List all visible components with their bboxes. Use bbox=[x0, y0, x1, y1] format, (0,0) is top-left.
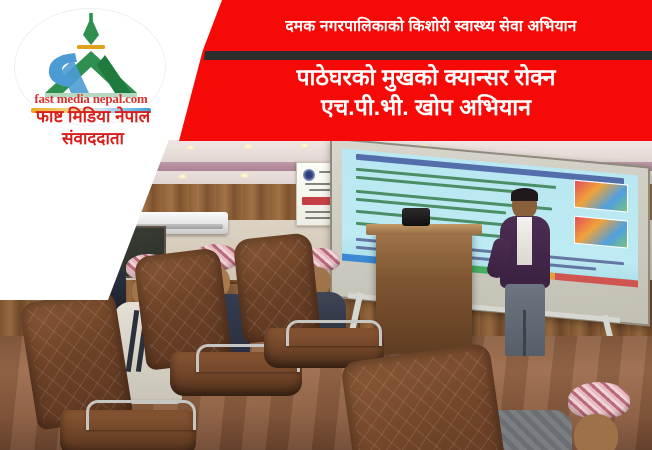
ceiling-light bbox=[300, 143, 309, 148]
presenter-trouser-gap bbox=[523, 310, 526, 356]
presenter-hair bbox=[511, 188, 538, 201]
podium bbox=[376, 230, 472, 354]
campaign-title-line2: एच.पी.भी. खोप अभियान bbox=[206, 92, 646, 122]
foreground-chair bbox=[344, 352, 534, 450]
ceiling-light bbox=[240, 173, 249, 178]
ceiling-light bbox=[244, 144, 253, 149]
presenter-shirt bbox=[517, 217, 532, 265]
news-banner-card: दमक नगरपालिकाको किशोरी स्वास्थ्य सेवा अभ… bbox=[0, 0, 652, 450]
dhaka-topi bbox=[568, 382, 630, 418]
ceiling-light bbox=[186, 145, 195, 150]
ceiling-light bbox=[178, 174, 187, 179]
slide-thumbnail bbox=[574, 216, 628, 249]
slide-thumbnail bbox=[574, 180, 628, 213]
campaign-title-line1: पाठेघरको मुखको क्यान्सर रोक्न bbox=[206, 62, 646, 92]
audience-member-with-topi bbox=[560, 440, 652, 450]
campaign-title: पाठेघरको मुखको क्यान्सर रोक्न एच.पी.भी. … bbox=[206, 62, 646, 123]
podium-mic bbox=[402, 208, 430, 226]
logo-nepali-line2: संवाददाता bbox=[0, 126, 186, 149]
nepal-emblem-icon bbox=[303, 169, 315, 181]
mountain-pen-nib-icon bbox=[15, 9, 167, 101]
presenter bbox=[496, 190, 554, 356]
logo-nepali-line1: फाष्ट मिडिया नेपाल bbox=[0, 104, 186, 127]
campaign-headline: दमक नगरपालिकाको किशोरी स्वास्थ्य सेवा अभ… bbox=[216, 14, 646, 36]
